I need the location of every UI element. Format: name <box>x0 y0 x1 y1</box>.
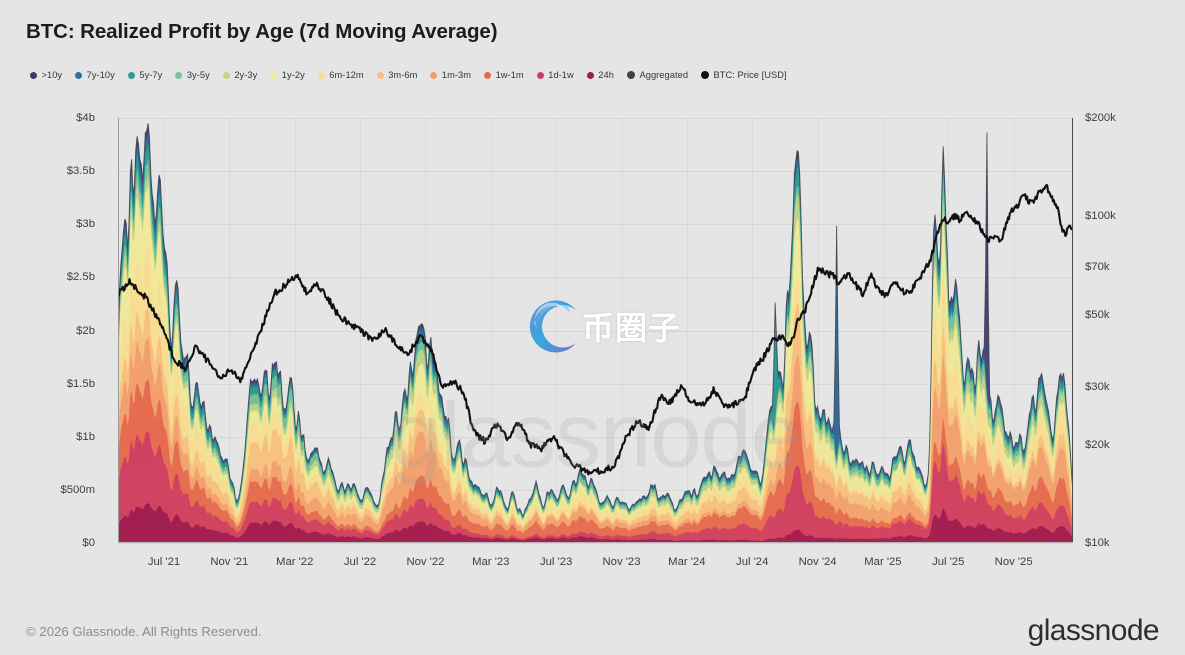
legend-item-aggregated[interactable]: Aggregated <box>627 70 688 80</box>
x-axis-tick-label: Jul '22 <box>344 556 376 568</box>
legend-item-label: 6m-12m <box>329 70 363 80</box>
x-axis-tick-label: Jul '25 <box>932 556 964 568</box>
legend-item-label: 7y-10y <box>87 70 115 80</box>
gridline-horizontal <box>118 543 1073 544</box>
legend-swatch-icon <box>30 72 37 79</box>
legend-item-1y-2y[interactable]: 1y-2y <box>270 70 304 80</box>
y-axis-right-tick-label: $20k <box>1085 439 1110 451</box>
legend-item-label: >10y <box>42 70 63 80</box>
x-axis-tick-label: Nov '21 <box>210 556 248 568</box>
legend-swatch-icon <box>128 72 135 79</box>
x-axis-tick-label: Jul '24 <box>736 556 768 568</box>
legend-swatch-icon <box>701 71 709 79</box>
legend-swatch-icon <box>223 72 230 79</box>
y-axis-right-tick-label: $50k <box>1085 309 1110 321</box>
legend-item-24h[interactable]: 24h <box>587 70 614 80</box>
legend-item-6m-12m[interactable]: 6m-12m <box>318 70 364 80</box>
x-axis-tick-label: Jul '21 <box>148 556 180 568</box>
legend-item-label: 1y-2y <box>282 70 305 80</box>
legend-item-2y-3y[interactable]: 2y-3y <box>223 70 257 80</box>
y-axis-left-tick-label: $2b <box>76 325 95 337</box>
x-axis-tick-label: Nov '25 <box>995 556 1033 568</box>
y-axis-right-tick-label: $200k <box>1085 112 1116 124</box>
copyright-text: © 2026 Glassnode. All Rights Reserved. <box>26 624 262 639</box>
legend-item-label: 1m-3m <box>442 70 471 80</box>
legend-item-1d-1w[interactable]: 1d-1w <box>537 70 574 80</box>
x-axis-tick-label: Nov '23 <box>603 556 641 568</box>
x-axis-tick-label: Jul '23 <box>540 556 572 568</box>
legend-item-label: 3m-6m <box>388 70 417 80</box>
y-axis-left-tick-label: $3.5b <box>67 165 95 177</box>
x-axis-tick-label: Nov '24 <box>799 556 837 568</box>
legend-swatch-icon <box>627 71 635 79</box>
legend-item-label: Aggregated <box>639 70 688 80</box>
x-axis-line <box>118 542 1073 543</box>
page-title: BTC: Realized Profit by Age (7d Moving A… <box>26 20 497 44</box>
y-axis-left-tick-label: $3b <box>76 218 95 230</box>
x-axis-tick-label: Mar '22 <box>276 556 313 568</box>
legend-item-label: 2y-3y <box>234 70 257 80</box>
chart-canvas <box>118 118 1073 543</box>
legend-item-label: BTC: Price [USD] <box>714 70 787 80</box>
y-axis-left-tick-label: $1.5b <box>67 378 95 390</box>
y-axis-right-tick-label: $100k <box>1085 210 1116 222</box>
plot-clip <box>118 118 1073 543</box>
legend-item-3y-5y[interactable]: 3y-5y <box>175 70 209 80</box>
legend-item-10y[interactable]: >10y <box>30 70 62 80</box>
y-axis-left-tick-label: $500m <box>60 484 95 496</box>
legend-item-btc-price-usd[interactable]: BTC: Price [USD] <box>701 70 787 80</box>
legend-swatch-icon <box>75 72 82 79</box>
y-axis-left-tick-label: $2.5b <box>67 271 95 283</box>
x-axis-tick-label: Mar '25 <box>864 556 901 568</box>
y-axis-left-line <box>118 118 119 543</box>
plot-area: glassnode <box>118 118 1073 543</box>
legend-swatch-icon <box>318 72 325 79</box>
y-axis-right-line <box>1072 118 1073 543</box>
legend-swatch-icon <box>484 72 491 79</box>
legend-item-label: 24h <box>598 70 614 80</box>
legend-swatch-icon <box>270 72 277 79</box>
legend-item-3m-6m[interactable]: 3m-6m <box>377 70 418 80</box>
y-axis-right-tick-label: $70k <box>1085 261 1110 273</box>
legend-item-label: 3y-5y <box>187 70 210 80</box>
legend-item-7y-10y[interactable]: 7y-10y <box>75 70 115 80</box>
legend-item-label: 1d-1w <box>548 70 574 80</box>
legend-swatch-icon <box>175 72 182 79</box>
legend-item-label: 5y-7y <box>139 70 162 80</box>
x-axis-tick-label: Nov '22 <box>406 556 444 568</box>
legend-item-1m-3m[interactable]: 1m-3m <box>430 70 471 80</box>
x-axis-tick-label: Mar '23 <box>472 556 509 568</box>
legend-item-5y-7y[interactable]: 5y-7y <box>128 70 162 80</box>
glassnode-logo: glassnode <box>1028 614 1159 648</box>
legend-swatch-icon <box>587 72 594 79</box>
legend-swatch-icon <box>537 72 544 79</box>
legend-item-1w-1m[interactable]: 1w-1m <box>484 70 524 80</box>
chart-legend: >10y7y-10y5y-7y3y-5y2y-3y1y-2y6m-12m3m-6… <box>30 67 800 83</box>
y-axis-left-tick-label: $4b <box>76 112 95 124</box>
y-axis-right-tick-label: $10k <box>1085 537 1110 549</box>
y-axis-left-tick-label: $1b <box>76 431 95 443</box>
y-axis-right-tick-label: $30k <box>1085 381 1110 393</box>
legend-swatch-icon <box>377 72 384 79</box>
x-axis-tick-label: Mar '24 <box>668 556 705 568</box>
legend-item-label: 1w-1m <box>496 70 524 80</box>
y-axis-left-tick-label: $0 <box>82 537 95 549</box>
legend-swatch-icon <box>430 72 437 79</box>
